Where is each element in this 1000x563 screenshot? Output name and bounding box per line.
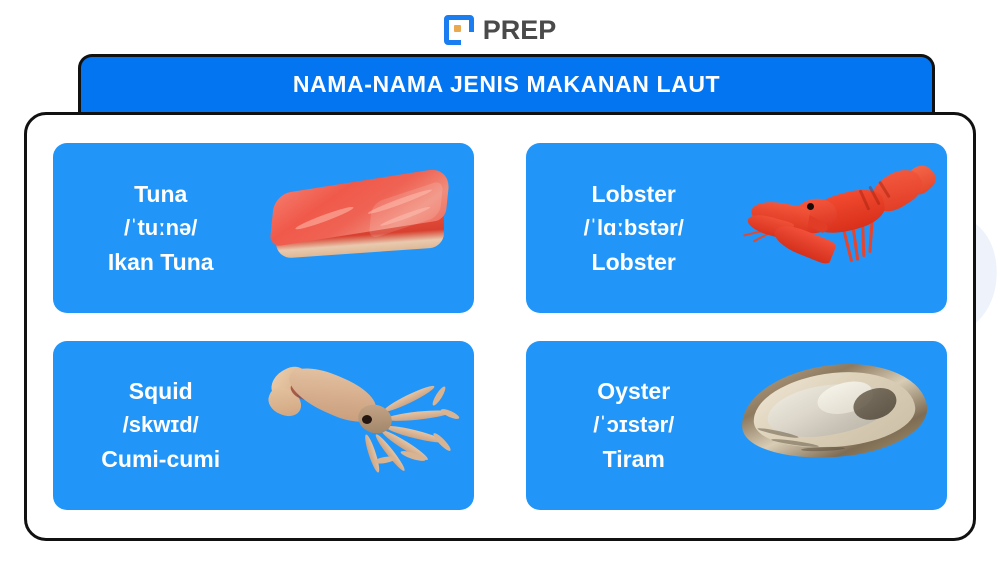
brand-name: PREP (483, 15, 557, 46)
brand-logo: PREP (0, 10, 1000, 50)
prep-logo-icon (444, 15, 474, 45)
logo-notch (461, 32, 474, 45)
squid-eye (362, 415, 372, 424)
vocabulary-card-oyster[interactable]: Oyster /ˈɔɪstər/ Tiram (526, 341, 947, 511)
squid-tentacle (383, 382, 437, 414)
tuna-grain (295, 204, 354, 232)
card-text-block: Lobster /ˈlɑːbstər/ Lobster (526, 177, 735, 279)
header-banner: NAMA-NAMA JENIS MAKANAN LAUT (78, 54, 935, 112)
oyster-image (735, 341, 947, 511)
word-english: Squid (59, 374, 262, 408)
word-ipa: /ˈlɑːbstər/ (532, 211, 735, 245)
squid-image (262, 341, 474, 511)
squid-illustration (262, 353, 462, 483)
vocabulary-card-tuna[interactable]: Tuna /ˈtuːnə/ Ikan Tuna (53, 143, 474, 313)
card-text-block: Tuna /ˈtuːnə/ Ikan Tuna (53, 177, 262, 279)
tuna-illustration (270, 171, 450, 263)
vocabulary-card-lobster[interactable]: Lobster /ˈlɑːbstər/ Lobster (526, 143, 947, 313)
word-indonesian: Tiram (532, 442, 735, 476)
word-indonesian: Ikan Tuna (59, 245, 262, 279)
word-english: Oyster (532, 374, 735, 408)
lobster-image (735, 143, 947, 313)
content-panel: Tuna /ˈtuːnə/ Ikan Tuna Lobst (24, 112, 976, 541)
tuna-steak-image (262, 143, 474, 313)
card-text-block: Oyster /ˈɔɪstər/ Tiram (526, 374, 735, 476)
word-indonesian: Lobster (532, 245, 735, 279)
lobster-illustration (745, 159, 935, 277)
vocabulary-card-squid[interactable]: Squid /skwɪd/ Cumi-cumi (53, 341, 474, 511)
card-text-block: Squid /skwɪd/ Cumi-cumi (53, 374, 262, 476)
squid-tentacle-tip (440, 407, 461, 421)
word-ipa: /ˈɔɪstər/ (532, 408, 735, 442)
page-title: NAMA-NAMA JENIS MAKANAN LAUT (293, 71, 720, 98)
word-english: Tuna (59, 177, 262, 211)
word-english: Lobster (532, 177, 735, 211)
vocabulary-card-grid: Tuna /ˈtuːnə/ Ikan Tuna Lobst (53, 143, 947, 510)
word-ipa: /ˈtuːnə/ (59, 211, 262, 245)
word-indonesian: Cumi-cumi (59, 442, 262, 476)
logo-dot (454, 25, 461, 32)
oyster-illustration (741, 359, 927, 467)
word-ipa: /skwɪd/ (59, 408, 262, 442)
